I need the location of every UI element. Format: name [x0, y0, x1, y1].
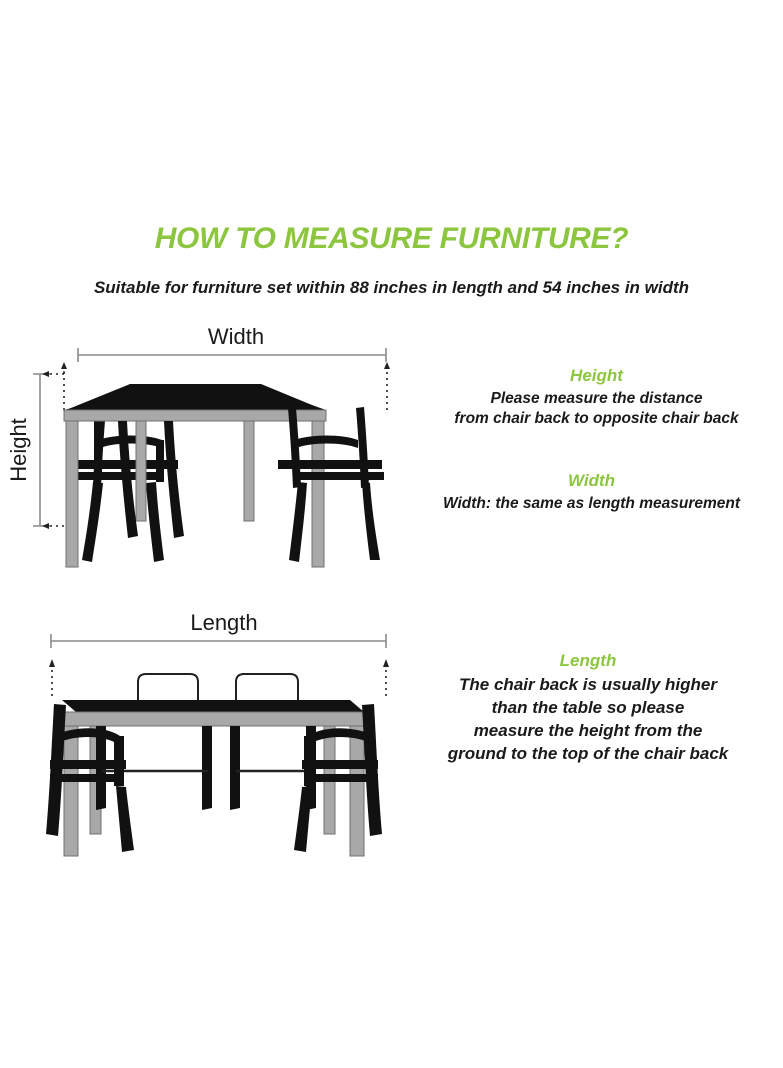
height-leader-arrow-mid-left: [42, 371, 49, 377]
table-apron: [64, 410, 326, 421]
chair-back-far-1: [138, 674, 198, 700]
note-width-line-1: Width: the same as length measurement: [400, 494, 783, 514]
width-dimension-line: [78, 348, 386, 362]
note-height-line-1: Please measure the distance: [410, 389, 783, 409]
height-leader-arrow-top-right: [384, 362, 390, 369]
page-title: HOW TO MEASURE FURNITURE?: [0, 222, 783, 256]
table-leg-right-front: [350, 726, 364, 856]
note-height-body: Please measure the distance from chair b…: [410, 389, 783, 429]
diagram-front-view: Width Height: [6, 322, 406, 570]
note-length: Length The chair back is usually higher …: [393, 650, 783, 766]
note-length-body: The chair back is usually higher than th…: [393, 674, 783, 766]
table-apron: [62, 712, 364, 726]
height-leader-arrow-top-left: [61, 362, 67, 369]
note-length-line-1: The chair back is usually higher: [393, 674, 783, 697]
diagram-side-view: Length: [6, 608, 406, 858]
note-height: Height Please measure the distance from …: [410, 365, 783, 430]
note-length-line-4: ground to the top of the chair back: [393, 743, 783, 766]
chair-right: [278, 407, 384, 562]
note-width-heading: Width: [400, 470, 783, 491]
note-height-line-2: from chair back to opposite chair back: [410, 409, 783, 429]
page-subtitle: Suitable for furniture set within 88 inc…: [0, 278, 783, 298]
table-leg-back-right: [244, 421, 254, 521]
width-dimension-label: Width: [208, 324, 264, 349]
height-dimension-line: [33, 374, 50, 526]
infographic-page: HOW TO MEASURE FURNITURE? Suitable for f…: [0, 0, 783, 1068]
length-dimension-line: [51, 634, 386, 648]
note-length-heading: Length: [393, 650, 783, 671]
note-length-line-3: measure the height from the: [393, 720, 783, 743]
table-leg-back-left: [136, 421, 146, 521]
length-leader-arrow-left: [49, 659, 55, 667]
note-height-heading: Height: [410, 365, 783, 386]
note-length-line-2: than the table so please: [393, 697, 783, 720]
chair-back-far-2: [236, 674, 298, 700]
height-leader-arrow-bottom-left: [42, 523, 49, 529]
note-width-body: Width: the same as length measurement: [400, 494, 783, 514]
length-leader-arrow-right: [383, 659, 389, 667]
table-leg-left-front: [64, 726, 78, 856]
chair-legs-far: [96, 726, 316, 810]
note-width: Width Width: the same as length measurem…: [400, 470, 783, 514]
height-dimension-label: Height: [6, 418, 31, 482]
table-top: [62, 700, 364, 712]
table-leg-front-left: [66, 421, 78, 567]
length-dimension-label: Length: [190, 610, 257, 635]
